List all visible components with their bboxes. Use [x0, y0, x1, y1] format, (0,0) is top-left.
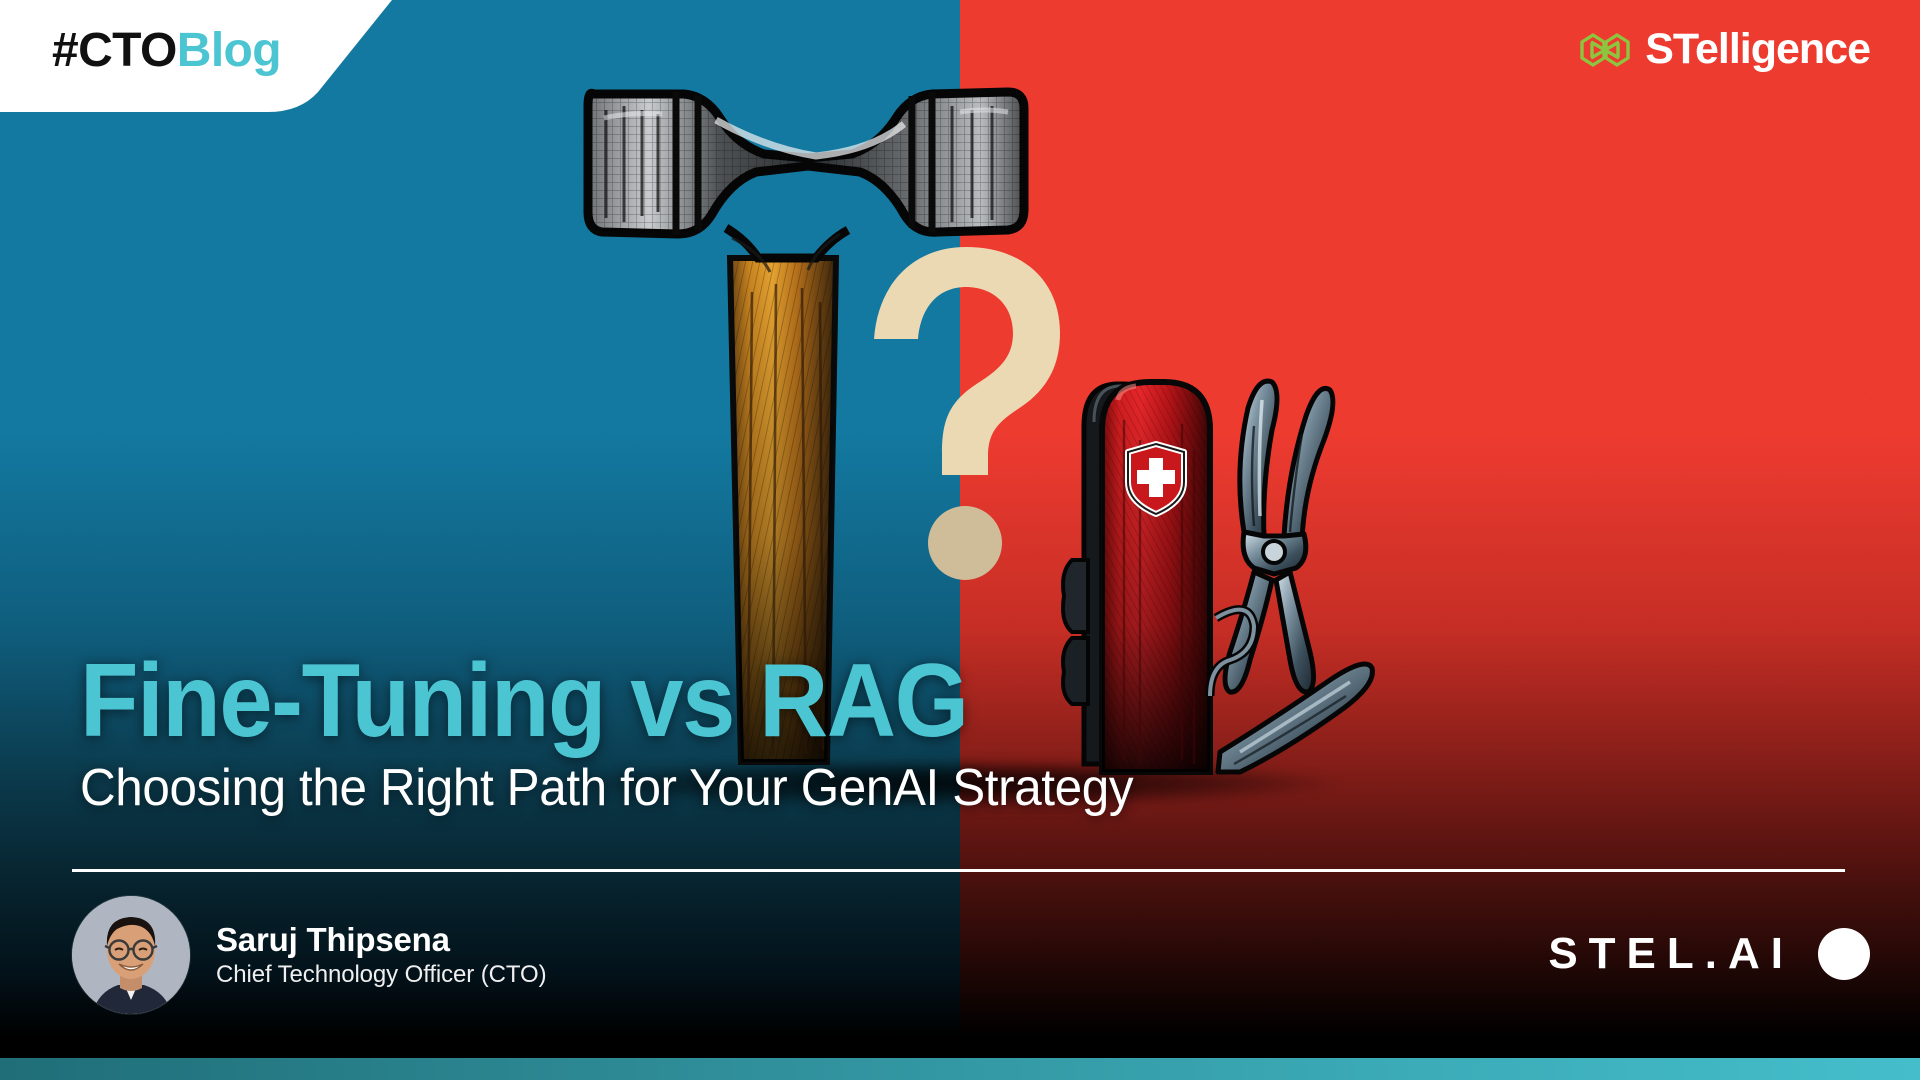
- stel-ai-logo[interactable]: STEL.AI: [1548, 928, 1870, 980]
- filled-circle-icon: [1818, 928, 1870, 980]
- bottom-accent-bar: [0, 1058, 1920, 1080]
- page-subtitle: Choosing the Right Path for Your GenAI S…: [80, 760, 1133, 817]
- stelligence-wordmark: STelligence: [1645, 28, 1870, 71]
- stelligence-logo[interactable]: STelligence: [1578, 28, 1870, 71]
- author-meta: Saruj Thipsena Chief Technology Officer …: [216, 922, 546, 989]
- badge-label: #CTOBlog: [52, 27, 281, 75]
- avatar: [72, 896, 190, 1014]
- stel-ai-wordmark: STEL.AI: [1548, 932, 1794, 976]
- author-block: Saruj Thipsena Chief Technology Officer …: [72, 896, 546, 1014]
- author-portrait-avatar: [72, 896, 190, 1014]
- page-title: Fine-Tuning vs RAG: [80, 648, 1100, 754]
- infinity-hexagon-icon: [1578, 31, 1632, 69]
- footer-divider: [72, 869, 1845, 872]
- cto-blog-badge: #CTOBlog: [0, 0, 392, 122]
- badge-label-blog: Blog: [177, 24, 281, 77]
- badge-label-hash-cto: #CTO: [52, 24, 177, 77]
- footer-bar: Saruj Thipsena Chief Technology Officer …: [0, 880, 1920, 1058]
- author-name: Saruj Thipsena: [216, 922, 546, 958]
- author-role: Chief Technology Officer (CTO): [216, 962, 546, 988]
- headline-block: Fine-Tuning vs RAG Choosing the Right Pa…: [80, 648, 1189, 817]
- poster-canvas: #CTOBlog STelligence Fine-Tuning vs RAG …: [0, 0, 1920, 1080]
